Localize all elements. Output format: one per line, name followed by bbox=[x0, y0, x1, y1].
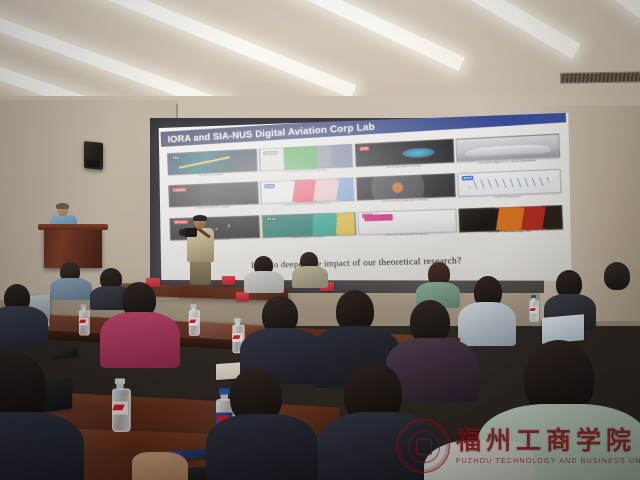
bottle-label bbox=[189, 318, 198, 326]
slide-panel: Grab Dynamic Pricing and Matching in Sou… bbox=[260, 178, 353, 212]
audience-head bbox=[604, 262, 630, 290]
slide-panel: ONE Global Fleet Deployment and Scheduli… bbox=[357, 208, 455, 242]
slide-panel-grid: PSA Port Berthing in Singapore Changi Cr… bbox=[167, 134, 561, 248]
audience-shoulders bbox=[458, 302, 516, 346]
audience-shoulders bbox=[50, 278, 92, 300]
bottle-body bbox=[189, 310, 200, 336]
camera-icon bbox=[184, 228, 197, 237]
foreground-shoulders bbox=[424, 440, 534, 480]
bottle-cap bbox=[234, 318, 241, 322]
panel-thumbnail: PSA bbox=[167, 149, 257, 176]
slide-panel: Food Waste in Sustainable Supply Chain bbox=[458, 205, 561, 240]
panel-logo: NTUC bbox=[266, 217, 278, 221]
bottle-cap bbox=[115, 378, 125, 384]
audience-shoulders bbox=[0, 306, 48, 346]
foreground-hand bbox=[132, 452, 188, 480]
panel-thumbnail: MOH bbox=[457, 169, 562, 197]
panel-thumbnail: ONE bbox=[357, 208, 457, 234]
bottle-cap bbox=[219, 388, 230, 394]
podium-top bbox=[38, 224, 108, 230]
foreground-shoulders bbox=[206, 414, 318, 480]
audience-shoulders bbox=[292, 266, 328, 288]
panel-logo: PSA bbox=[172, 155, 181, 159]
bottle-label bbox=[530, 307, 538, 313]
air-vent bbox=[560, 71, 640, 84]
water-bottle bbox=[112, 389, 128, 433]
panel-thumbnail: Grab bbox=[260, 178, 355, 204]
bottle-cap bbox=[190, 304, 196, 307]
slide-panel: NTUC Production Capacity Coordination bbox=[261, 212, 354, 245]
audience-shoulders bbox=[244, 271, 284, 293]
panel-logo: Changi bbox=[264, 150, 278, 155]
panel-logo: Grab bbox=[265, 184, 275, 189]
smartphone bbox=[52, 347, 79, 358]
conference-photo: IORA and SIA-NUS Digital Aviation Corp L… bbox=[0, 0, 640, 480]
slide-panel: MOH Covid-19 Operation Lab bbox=[457, 169, 559, 205]
foreground-shoulders bbox=[0, 412, 84, 480]
panel-logo: MOH bbox=[462, 176, 473, 181]
panel-thumbnail: Changi bbox=[259, 144, 354, 171]
slide-surface: IORA and SIA-NUS Digital Aviation Corp L… bbox=[159, 113, 572, 281]
audience-shoulders bbox=[100, 312, 180, 368]
presenter-hair bbox=[56, 203, 69, 209]
bottle-cap bbox=[531, 295, 536, 298]
wall-speaker bbox=[84, 141, 103, 170]
name-card bbox=[222, 276, 235, 285]
photographer-legs bbox=[190, 261, 211, 285]
photographer-hair bbox=[193, 215, 207, 221]
panel-thumbnail: Lazada bbox=[168, 182, 259, 208]
bottle-body bbox=[530, 300, 539, 322]
panel-thumbnail: DiDi bbox=[355, 139, 454, 167]
panel-logo: DiDi bbox=[360, 146, 370, 151]
slide-panel: After-Service Support for EV Fleet in Co… bbox=[456, 134, 558, 171]
panel-thumbnail: NTUC bbox=[261, 212, 356, 238]
panel-thumbnail bbox=[458, 205, 563, 232]
water-bottle bbox=[79, 310, 88, 335]
bottle-body bbox=[112, 389, 131, 433]
bottle-cap bbox=[81, 304, 87, 307]
water-bottle bbox=[530, 300, 538, 322]
panel-logo: Lazada bbox=[173, 187, 186, 192]
bottle-label bbox=[232, 333, 242, 342]
panel-thumbnail bbox=[456, 134, 560, 163]
foreground-shoulders bbox=[318, 412, 440, 480]
slide-panel: Changi Crew Availability in Critical Air… bbox=[259, 144, 352, 179]
bottle-label bbox=[112, 402, 128, 415]
projection-screen: IORA and SIA-NUS Digital Aviation Corp L… bbox=[159, 113, 572, 281]
bottle-label bbox=[79, 318, 88, 326]
slide-panel: DiDi Ride-hailing Dispatch in Chengdu bbox=[355, 139, 452, 175]
panel-logo: ONE bbox=[362, 214, 372, 219]
panel-thumbnail bbox=[356, 174, 456, 201]
bottle-body bbox=[79, 310, 90, 335]
slide-question-text: How to deepen the impact of our theoreti… bbox=[183, 254, 541, 272]
water-bottle bbox=[189, 310, 198, 336]
slide-panel: PSA Port Berthing in Singapore bbox=[167, 149, 256, 183]
slide-panel: Lazada Last-Mile Allocation in E-Commerc… bbox=[168, 182, 257, 215]
slide-panel: Maritime Network Design under Uncertaint… bbox=[356, 174, 454, 209]
name-card bbox=[236, 292, 249, 301]
photographer bbox=[186, 216, 216, 284]
